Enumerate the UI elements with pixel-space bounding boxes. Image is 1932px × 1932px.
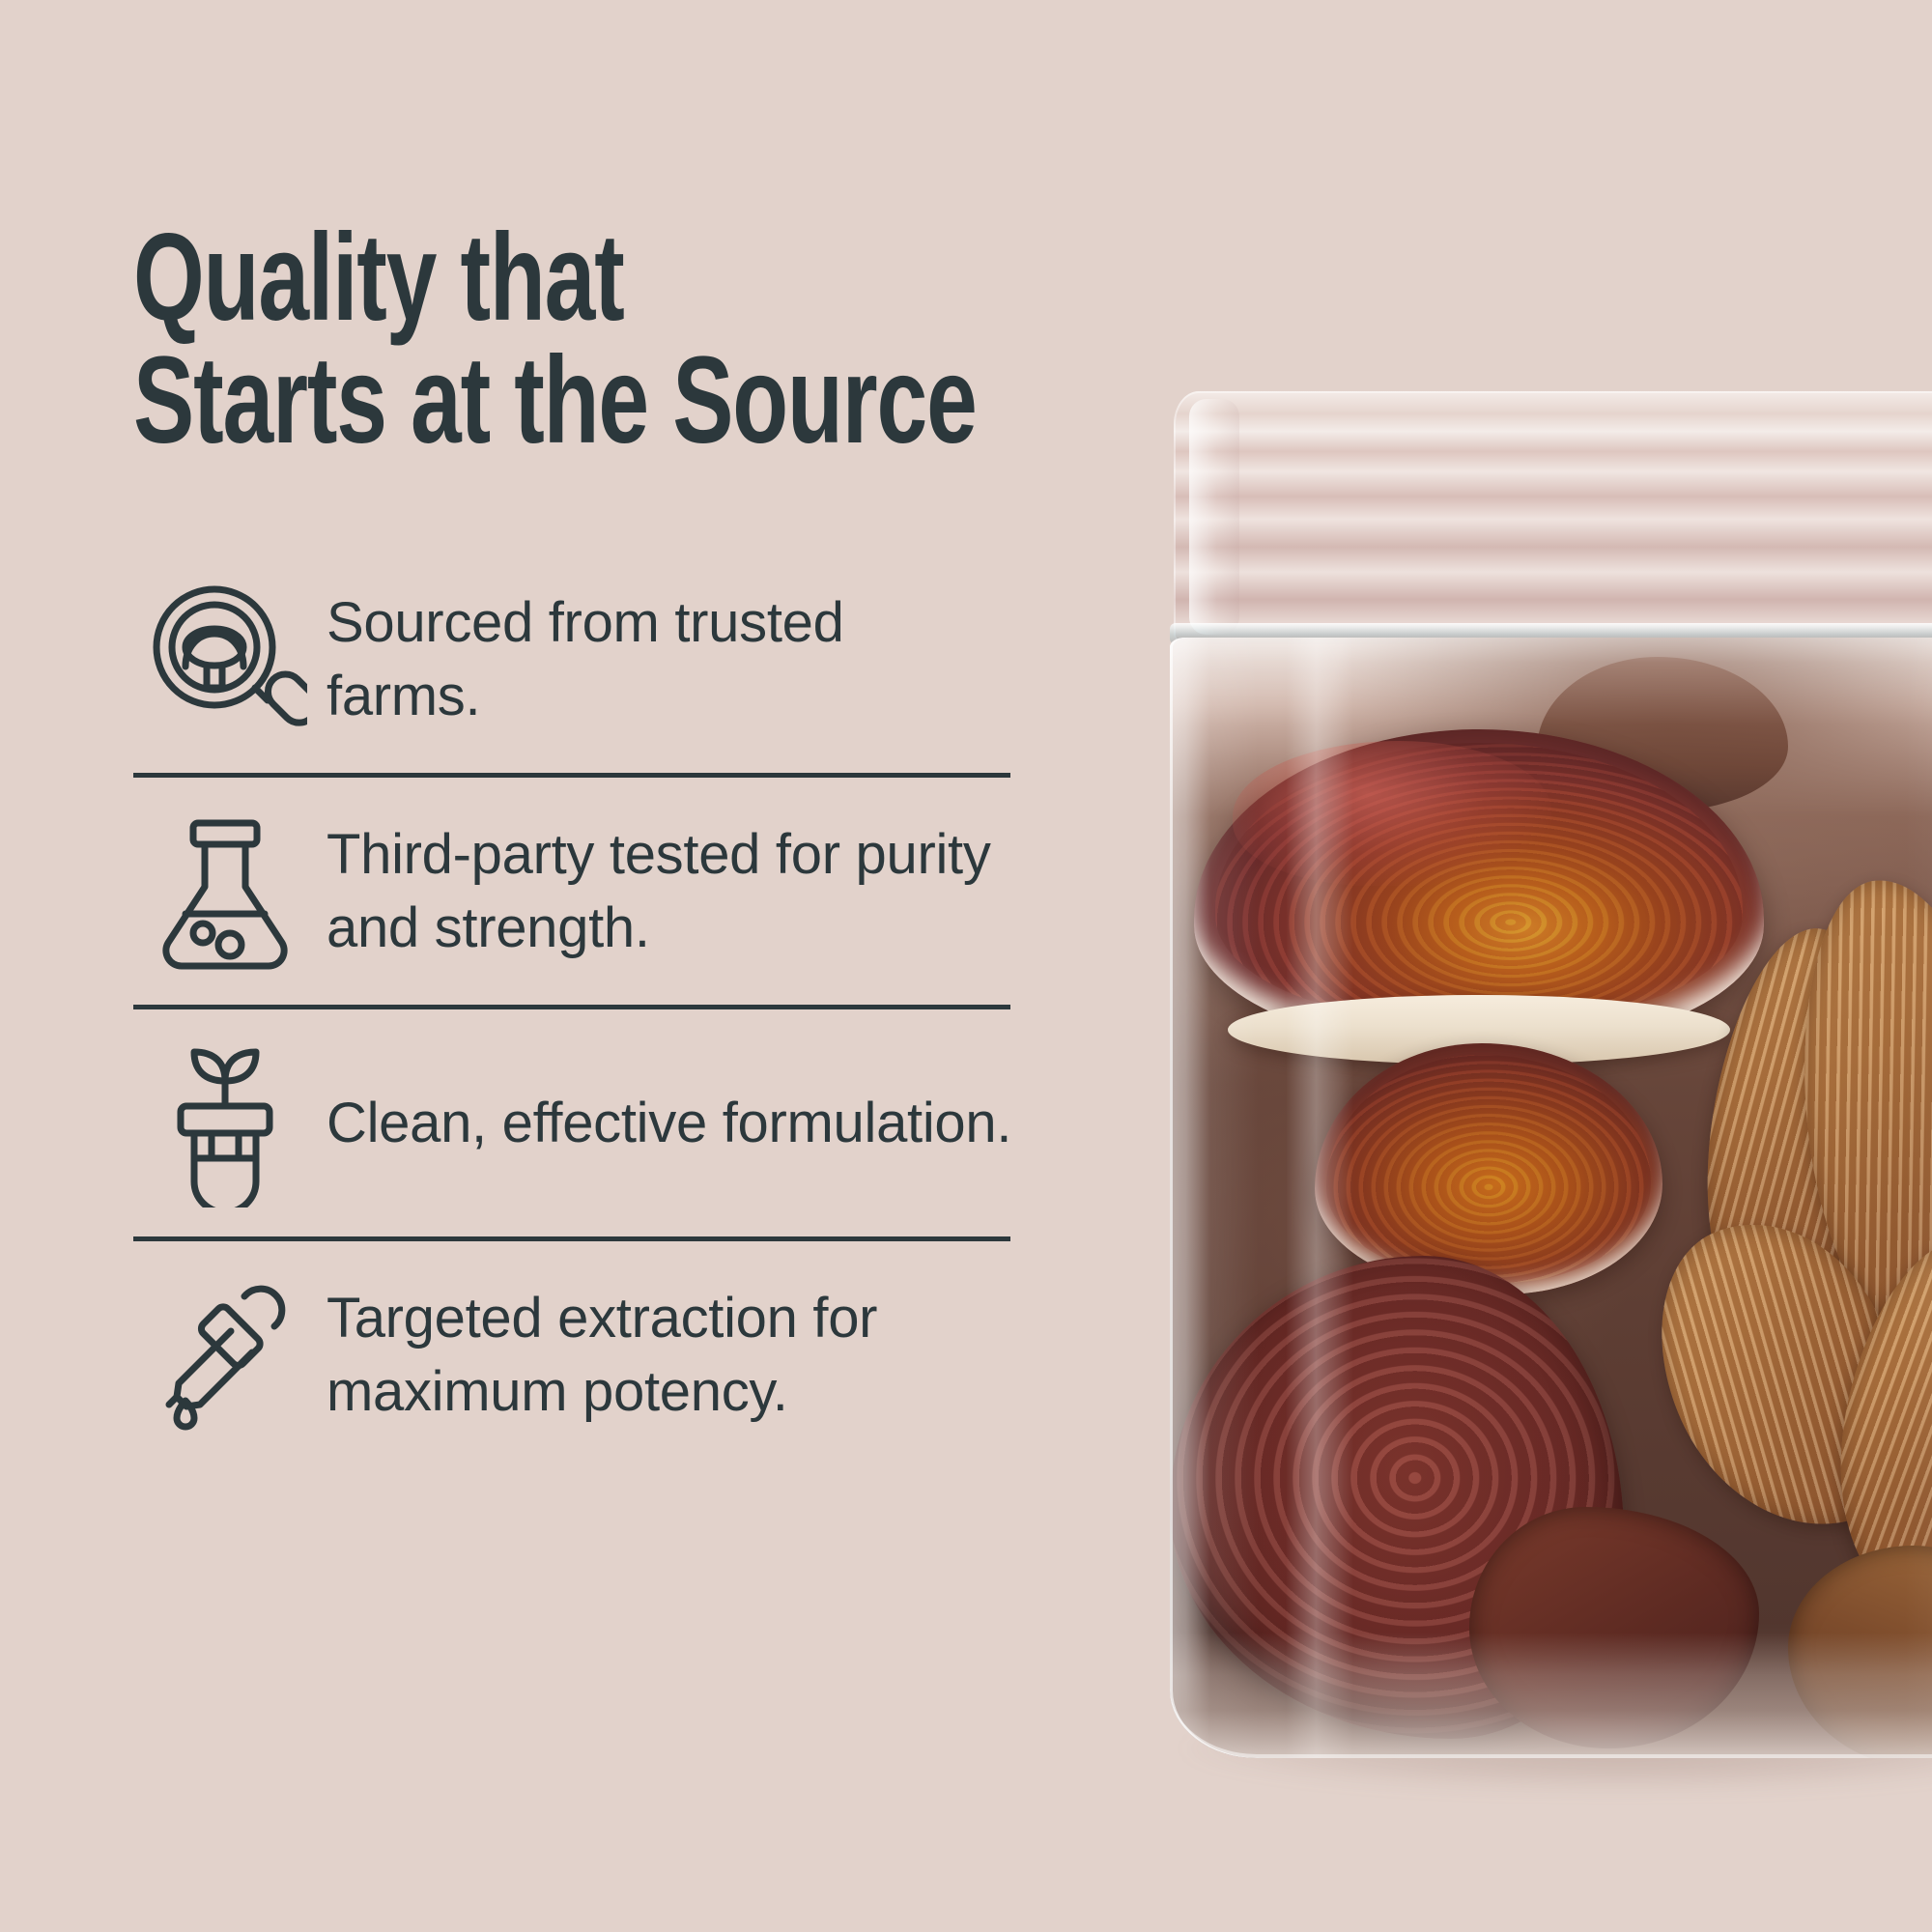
feature-item-tested: Third-party tested for purity and streng… bbox=[133, 778, 1032, 1005]
promo-graphic: Quality that Starts at the Source bbox=[0, 0, 1932, 1932]
mushroom-piece-b bbox=[1788, 1546, 1932, 1758]
flask-icon bbox=[133, 800, 317, 983]
feature-list: Sourced from trusted farms. Third-party … bbox=[133, 546, 1032, 1468]
content-panel: Quality that Starts at the Source bbox=[133, 0, 1032, 1932]
sprout-test-tube-icon bbox=[133, 1032, 317, 1215]
headline-line-1: Quality that bbox=[133, 217, 798, 340]
reishi-cap-second bbox=[1315, 1043, 1662, 1294]
feature-label-formulation: Clean, effective formulation. bbox=[317, 1087, 1012, 1159]
feature-label-sourced: Sourced from trusted farms. bbox=[317, 586, 1012, 732]
feature-label-tested: Third-party tested for purity and streng… bbox=[317, 818, 1012, 964]
jar-body bbox=[1170, 638, 1932, 1758]
page-title: Quality that Starts at the Source bbox=[133, 217, 798, 462]
feature-item-sourced: Sourced from trusted farms. bbox=[133, 546, 1032, 773]
jar-contents-mushrooms bbox=[1170, 638, 1932, 1758]
jar-lid bbox=[1174, 391, 1932, 642]
mushroom-piece-a bbox=[1469, 1507, 1759, 1748]
magnifier-mushroom-icon bbox=[133, 568, 317, 752]
feature-item-extraction: Targeted extraction for maximum potency. bbox=[133, 1241, 1032, 1468]
feature-item-formulation: Clean, effective formulation. bbox=[133, 1009, 1032, 1236]
headline-line-2: Starts at the Source bbox=[133, 340, 798, 463]
feature-label-extraction: Targeted extraction for maximum potency. bbox=[317, 1282, 1012, 1428]
dropper-icon bbox=[133, 1264, 317, 1447]
product-photo-jar bbox=[1154, 0, 1932, 1932]
